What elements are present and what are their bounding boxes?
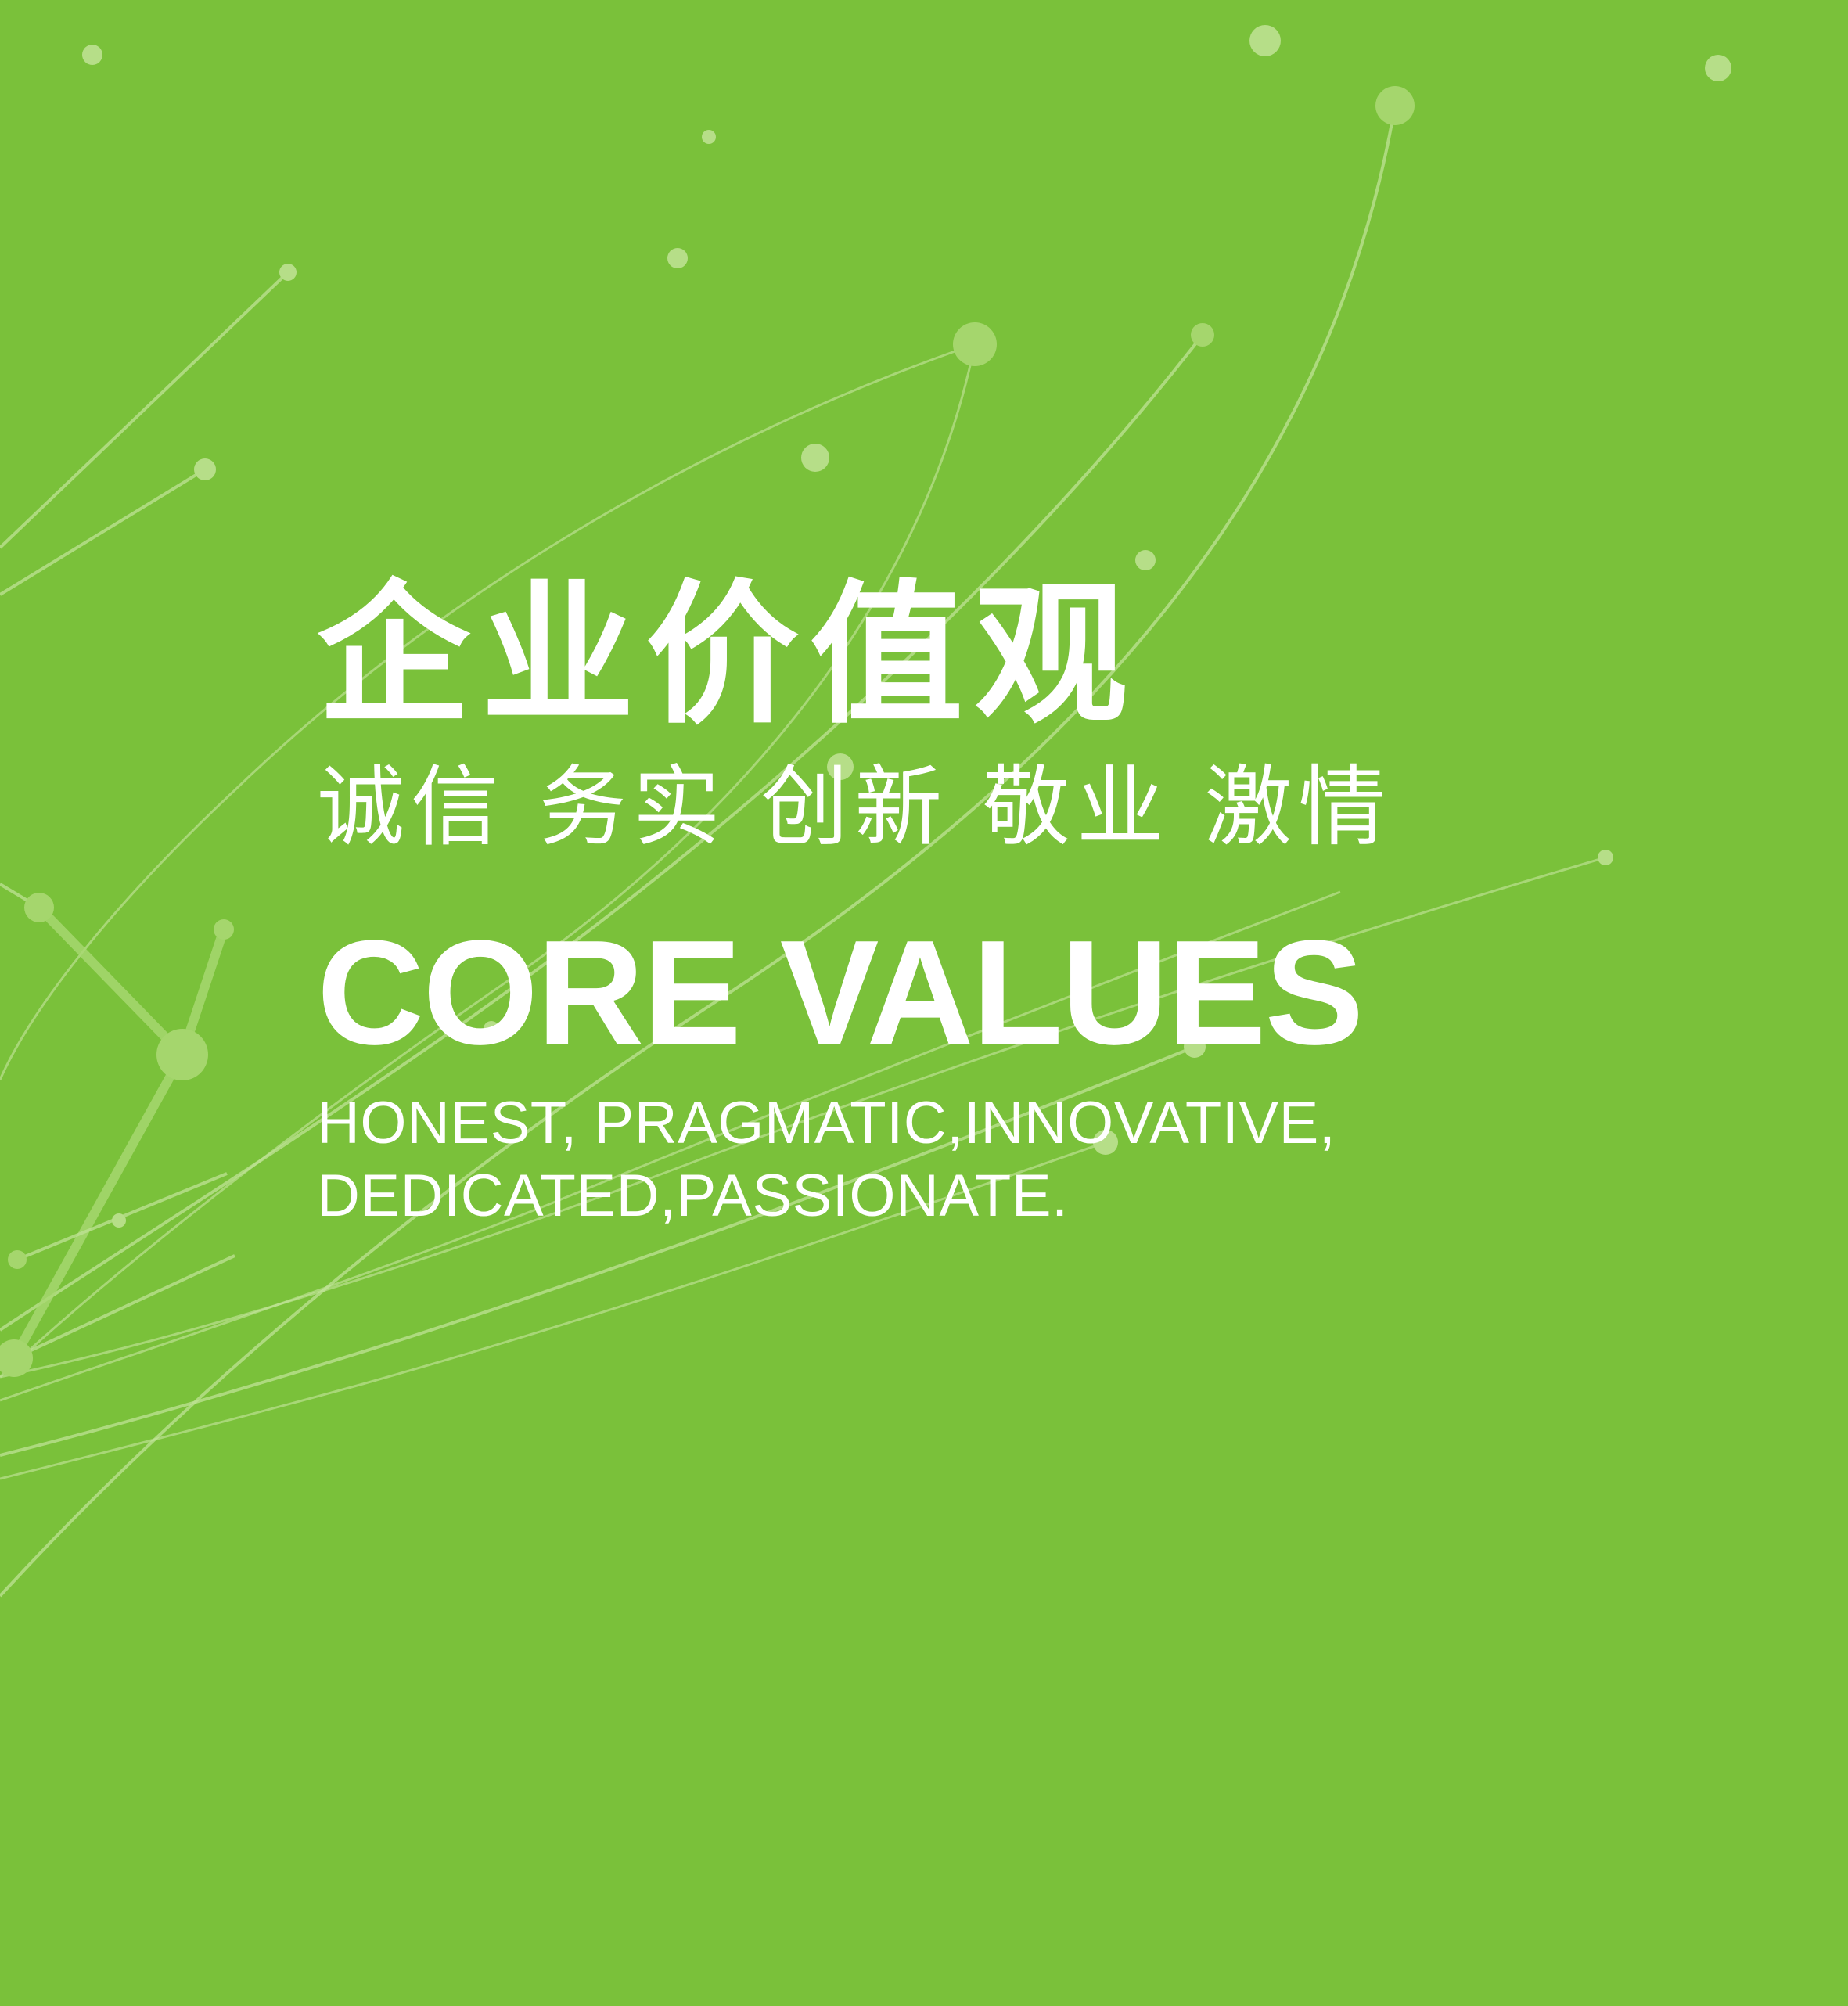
subheading-english-line-2: DEDICATED,PASSIONATE. [317,1160,1725,1233]
subheading-chinese: 诚信 务实 创新 敬业 激情 [317,762,1725,854]
heading-english: CORE VALUES [317,925,1725,1062]
node-dot [0,1339,33,1377]
edge-cluster-left-a [14,1055,182,1358]
edge-cluster-left-e [14,1256,235,1358]
node-dot [156,1029,208,1080]
heading-chinese: 企业价值观 [317,579,1725,732]
node-dot [214,919,234,940]
edge-left-top-link [0,469,205,595]
node-dot [24,893,54,922]
node-dot [1375,86,1415,125]
node-dot [702,130,716,144]
node-dot [801,444,829,472]
node-dot [953,322,997,366]
node-dot [8,1250,27,1269]
node-dot [1705,55,1731,81]
subheading-english-line-1: HONEST, PRAGMATIC,INNOVATIVE, [317,1087,1725,1160]
poster-text-block: 企业价值观 诚信 务实 创新 敬业 激情 CORE VALUES HONEST,… [317,579,1725,1233]
node-dot [112,1213,126,1228]
node-dot [1249,25,1281,56]
core-values-poster: .nline { stroke: #bfe295; stroke-width: … [0,0,1848,2006]
edge-cluster-left-f [17,1174,227,1260]
edge-cluster-left-c [182,929,224,1055]
node-dot [82,45,102,65]
edge-left-node-link [0,272,288,548]
subheading-english: HONEST, PRAGMATIC,INNOVATIVE, DEDICATED,… [317,1087,1725,1232]
node-dot [1191,323,1214,347]
edge-cluster-left-b [39,908,182,1055]
node-dot [279,264,297,281]
node-dot [667,248,688,268]
edge-cluster-left-d [0,884,39,908]
node-dot [194,458,216,480]
